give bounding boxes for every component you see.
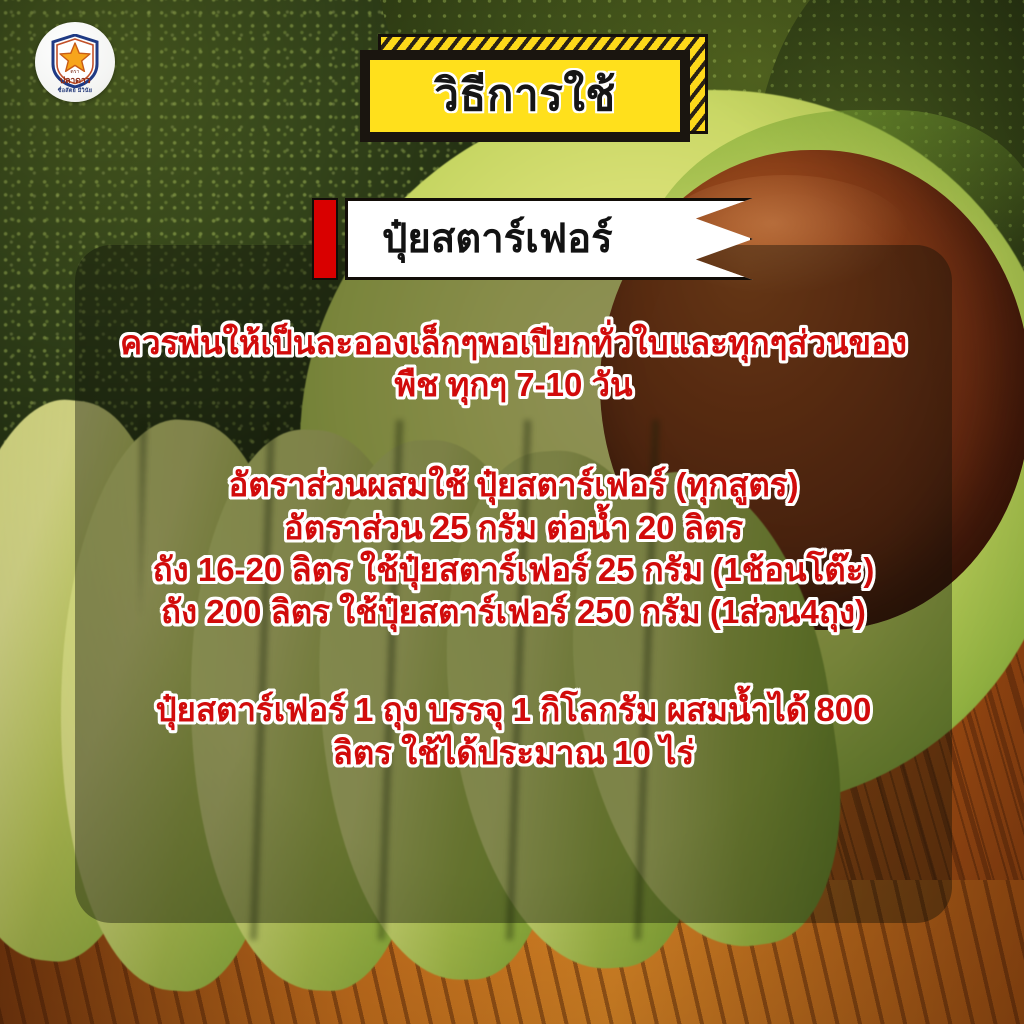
- title-banner: วิธีการใช้: [360, 40, 690, 140]
- ribbon-flag: ปุ๋ยสตาร์เฟอร์: [345, 198, 753, 280]
- copy-line: ปุ๋ยสตาร์เฟอร์ 1 ถุง บรรจุ 1 กิโลกรัม ผส…: [75, 689, 952, 731]
- product-name: ปุ๋ยสตาร์เฟอร์: [348, 219, 613, 259]
- logo-name-text: ปลาดาว: [35, 73, 115, 87]
- ribbon-accent-block: [312, 198, 338, 280]
- infographic-canvas: ตรา ปลาดาว ซื่อสัตย์ มีวินัย วิธีการใช้ …: [0, 0, 1024, 1024]
- copy-line: ลิตร ใช้ได้ประมาณ 10 ไร่: [75, 732, 952, 774]
- copy-line: ควรพ่นให้เป็นละอองเล็กๆพอเปียกทั่วใบและท…: [75, 322, 952, 364]
- title-inner: วิธีการใช้: [367, 57, 683, 135]
- copy-line: อัตราส่วนผสมใช้ ปุ๋ยสตาร์เฟอร์ (ทุกสูตร): [75, 464, 952, 506]
- copy-line: อัตราส่วน 25 กรัม ต่อน้ำ 20 ลิตร: [75, 507, 952, 549]
- logo-sub-text: ซื่อสัตย์ มีวินัย: [35, 87, 115, 95]
- copy-line: ถัง 200 ลิตร ใช้ปุ๋ยสตาร์เฟอร์ 250 กรัม …: [75, 591, 952, 633]
- title-box: วิธีการใช้: [360, 50, 690, 142]
- instructions-body: ควรพ่นให้เป็นละอองเล็กๆพอเปียกทั่วใบและท…: [75, 300, 952, 774]
- block-mixing-ratios: อัตราส่วนผสมใช้ ปุ๋ยสตาร์เฟอร์ (ทุกสูตร)…: [75, 406, 952, 633]
- copy-line: พืช ทุกๆ 7-10 วัน: [75, 364, 952, 406]
- copy-line: ถัง 16-20 ลิตร ใช้ปุ๋ยสตาร์เฟอร์ 25 กรัม…: [75, 549, 952, 591]
- block-spray-instructions: ควรพ่นให้เป็นละอองเล็กๆพอเปียกทั่วใบและท…: [75, 300, 952, 406]
- brand-logo: ตรา ปลาดาว ซื่อสัตย์ มีวินัย: [35, 22, 115, 102]
- page-title: วิธีการใช้: [434, 74, 615, 118]
- block-coverage: ปุ๋ยสตาร์เฟอร์ 1 ถุง บรรจุ 1 กิโลกรัม ผส…: [75, 633, 952, 773]
